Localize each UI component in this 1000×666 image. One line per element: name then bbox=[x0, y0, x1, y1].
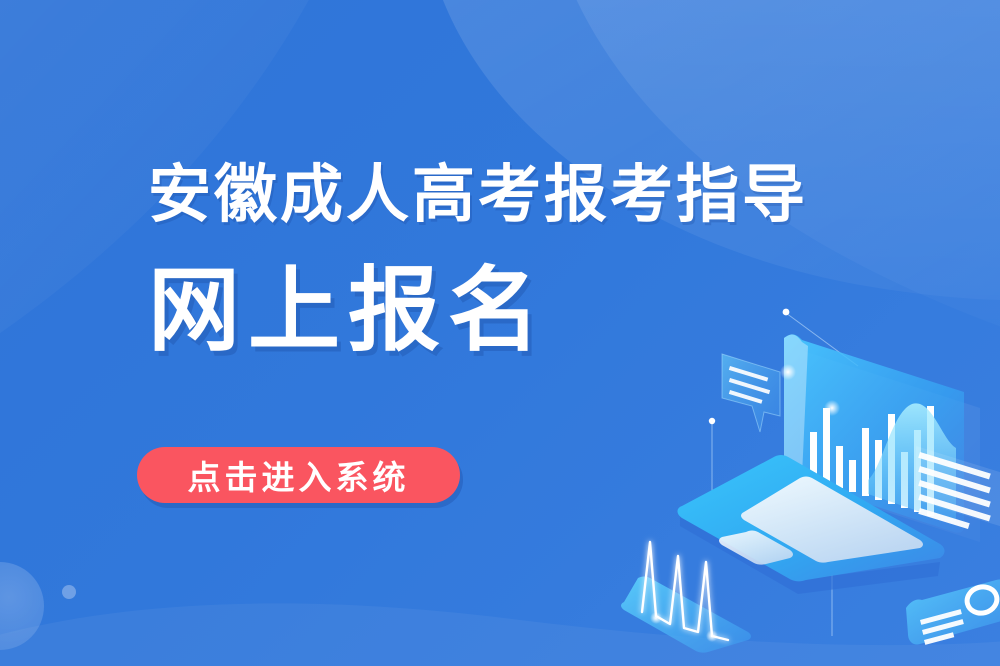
enter-system-button[interactable]: 点击进入系统 bbox=[137, 447, 460, 503]
donut-chart-card bbox=[906, 579, 1000, 644]
chat-bubble bbox=[722, 354, 780, 432]
connector-dot bbox=[709, 418, 715, 424]
analytics-illustration bbox=[620, 280, 1000, 666]
ecg-glow-dot bbox=[650, 612, 662, 624]
ecg-glow-dot bbox=[706, 630, 718, 642]
promo-banner: 安徽成人高考报考指导 网上报名 点击进入系统 bbox=[0, 0, 1000, 666]
screen-glow-dot bbox=[780, 364, 796, 380]
decor-circle-small bbox=[62, 585, 76, 599]
screen-glow-dot bbox=[824, 400, 840, 416]
heartbeat-plate bbox=[621, 542, 751, 653]
page-title: 安徽成人高考报考指导 bbox=[148, 160, 868, 231]
connector-dot bbox=[783, 309, 790, 316]
decor-circle-large bbox=[0, 562, 44, 650]
